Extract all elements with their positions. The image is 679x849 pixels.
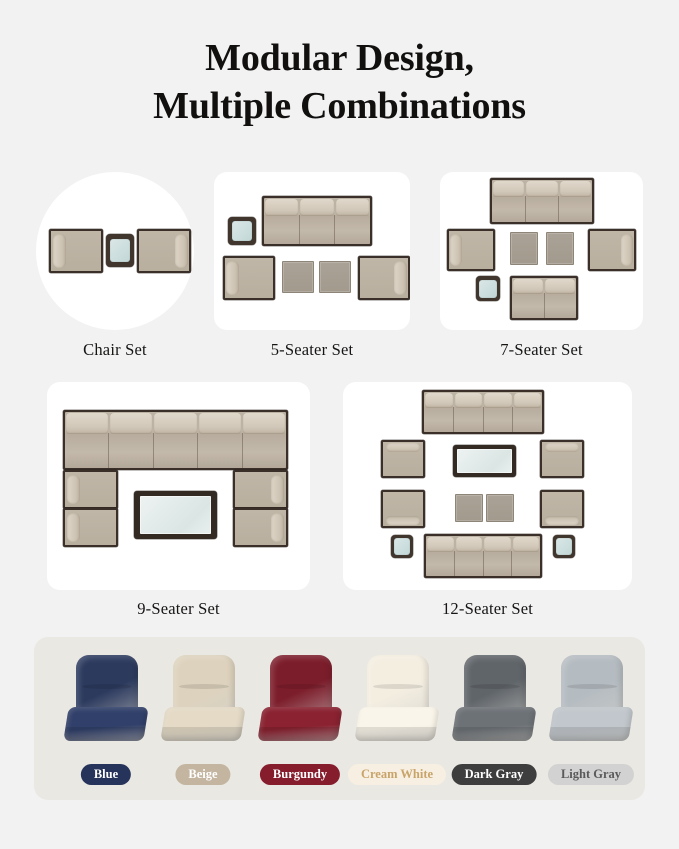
back-cushion (484, 537, 511, 552)
chair-body (590, 231, 634, 269)
seat-cushion (513, 407, 542, 432)
side-table-glass-top (479, 280, 496, 298)
seat-cushion (264, 215, 300, 244)
chair-armrest-cushion (545, 443, 579, 452)
seat-cushion (454, 407, 484, 432)
seat-cushion-swatch (257, 707, 342, 741)
back-cushion (427, 537, 454, 552)
cushion-preview (448, 655, 540, 751)
sofa-seat-cushions (426, 551, 540, 576)
back-cushion (154, 413, 196, 434)
chair-armrest-cushion (53, 234, 66, 268)
back-cushion (545, 279, 575, 294)
chair-body (51, 231, 101, 271)
sofa-back-cushions (264, 198, 370, 216)
chair-body (449, 231, 493, 269)
ottoman-stool (546, 232, 574, 265)
back-cushion (243, 413, 285, 434)
armchair (137, 229, 191, 273)
armchair (233, 470, 288, 509)
coffee-table (134, 491, 217, 539)
armchair (381, 440, 425, 478)
sofa-4-seat (422, 390, 544, 434)
side-table (553, 535, 575, 558)
back-cushion (526, 181, 557, 197)
ottoman-stool (319, 261, 351, 293)
seat-cushion-swatch (548, 707, 633, 741)
chair-armrest-cushion (67, 513, 80, 542)
seat-cushion (526, 196, 560, 222)
chair-armrest-cushion (226, 261, 238, 295)
set-card-chair-set[interactable] (36, 172, 194, 330)
chair-body (139, 231, 189, 271)
sofa-back-cushions (512, 278, 576, 294)
armchair (233, 508, 288, 547)
sofa-body (512, 278, 576, 318)
back-cushion (110, 413, 152, 434)
armchair (223, 256, 275, 300)
set-label-nine-seater-set: 9-Seater Set (47, 599, 310, 619)
seat-cushion (484, 407, 514, 432)
seat-cushion (512, 551, 540, 576)
chair-body (542, 492, 582, 526)
seat-cushion (512, 293, 545, 318)
back-cushion (456, 537, 483, 552)
chair-armrest-cushion (545, 516, 579, 525)
cushion-preview (254, 655, 346, 751)
back-cushion (66, 413, 108, 434)
back-cushion (425, 393, 453, 408)
seat-cushion (154, 433, 198, 468)
sofa-body (426, 536, 540, 576)
set-label-chair-set: Chair Set (36, 340, 194, 360)
sofa-back-cushions (492, 180, 592, 197)
sofa-body (424, 392, 542, 432)
sofa-body (264, 198, 370, 244)
armchair (588, 229, 636, 271)
side-table-glass-top (556, 538, 572, 555)
sofa-back-cushions (426, 536, 540, 552)
set-label-seven-seater-set: 7-Seater Set (440, 340, 643, 360)
set-label-twelve-seater-set: 12-Seater Set (343, 599, 632, 619)
color-label-burgundy[interactable]: Burgundy (260, 764, 340, 785)
side-table-glass-top (110, 239, 130, 263)
color-swatch-burgundy[interactable]: Burgundy (252, 655, 348, 785)
ottoman-stool (455, 494, 483, 522)
set-card-five-seater-set[interactable] (214, 172, 410, 330)
chair-armrest-cushion (175, 234, 188, 268)
sofa-2-seat (510, 276, 578, 320)
seat-cushion (559, 196, 592, 222)
armchair (63, 470, 118, 509)
color-options-panel: BlueBeigeBurgundyCream WhiteDark GrayLig… (34, 637, 645, 800)
coffee-table (453, 445, 516, 477)
armchair (540, 490, 584, 528)
armchair (358, 256, 410, 300)
chair-body (383, 492, 423, 526)
seat-cushion (424, 407, 454, 432)
side-table (476, 276, 500, 301)
color-label-dark-gray[interactable]: Dark Gray (452, 764, 537, 785)
chair-body (65, 472, 116, 507)
chair-body (225, 258, 273, 298)
set-label-five-seater-set: 5-Seater Set (214, 340, 410, 360)
chair-body (235, 472, 286, 507)
seat-cushion-swatch (354, 707, 439, 741)
seat-cushion (426, 551, 455, 576)
seat-cushion (300, 215, 336, 244)
sofa-back-cushions (65, 412, 286, 434)
armchair (381, 490, 425, 528)
side-table (391, 535, 413, 558)
seat-cushion (484, 551, 513, 576)
seat-cushion (65, 433, 109, 468)
sofa-5-seat (63, 410, 288, 470)
sofa-seat-cushions (492, 196, 592, 222)
back-cushion (336, 199, 369, 216)
cushion-preview (545, 655, 637, 751)
set-card-nine-seater-set[interactable] (47, 382, 310, 590)
armchair (540, 440, 584, 478)
seat-cushion-swatch (451, 707, 536, 741)
side-table (106, 234, 134, 267)
seat-cushion (109, 433, 153, 468)
back-cushion (493, 181, 524, 197)
chair-body (542, 442, 582, 476)
set-card-seven-seater-set[interactable] (440, 172, 643, 330)
cushion-preview (157, 655, 249, 751)
seat-cushion (198, 433, 242, 468)
seat-cushion (243, 433, 286, 468)
armchair (49, 229, 103, 273)
back-cushion (513, 537, 540, 552)
chair-body (235, 510, 286, 545)
ottoman-stool (282, 261, 314, 293)
chair-armrest-cushion (621, 234, 632, 266)
page-title: Modular Design, Multiple Combinations (0, 34, 679, 130)
color-label-light-gray[interactable]: Light Gray (548, 764, 634, 785)
seat-cushion (335, 215, 370, 244)
side-table-glass-top (232, 221, 252, 241)
ottoman-stool (486, 494, 514, 522)
color-swatch-cream-white[interactable]: Cream White (349, 655, 445, 785)
sofa-3-seat (490, 178, 594, 224)
sofa-seat-cushions (65, 433, 286, 468)
chair-body (360, 258, 408, 298)
back-cushion (265, 199, 298, 216)
chair-body (383, 442, 423, 476)
chair-armrest-cushion (450, 234, 461, 266)
coffee-table-glass-top (140, 496, 211, 533)
sofa-3-seat (262, 196, 372, 246)
chair-armrest-cushion (386, 516, 420, 525)
sofa-back-cushions (424, 392, 542, 408)
chair-armrest-cushion (271, 475, 284, 504)
chair-armrest-cushion (394, 261, 406, 295)
ottoman-stool (510, 232, 538, 265)
side-table (228, 217, 256, 245)
seat-cushion-swatch (160, 707, 245, 741)
armchair (63, 508, 118, 547)
title-line-1: Modular Design, (0, 34, 679, 82)
back-cushion (514, 393, 542, 408)
seat-cushion (455, 551, 484, 576)
color-label-blue[interactable]: Blue (81, 764, 131, 785)
set-card-twelve-seater-set[interactable] (343, 382, 632, 590)
sofa-seat-cushions (512, 293, 576, 318)
color-swatch-beige[interactable]: Beige (155, 655, 251, 785)
sofa-body (492, 180, 592, 222)
chair-body (65, 510, 116, 545)
sofa-4-seat (424, 534, 542, 578)
title-line-2: Multiple Combinations (0, 82, 679, 130)
seat-cushion-swatch (63, 707, 148, 741)
sofa-seat-cushions (424, 407, 542, 432)
seat-cushion (545, 293, 577, 318)
back-cushion (484, 393, 512, 408)
chair-armrest-cushion (386, 443, 420, 452)
back-cushion (455, 393, 483, 408)
color-swatch-dark-gray[interactable]: Dark Gray (446, 655, 542, 785)
color-label-cream-white[interactable]: Cream White (348, 764, 446, 785)
sofa-body (65, 412, 286, 468)
back-cushion (199, 413, 241, 434)
coffee-table-glass-top (457, 449, 511, 474)
side-table-glass-top (394, 538, 410, 555)
armchair (447, 229, 495, 271)
color-swatch-blue[interactable]: Blue (58, 655, 154, 785)
color-label-beige[interactable]: Beige (175, 764, 230, 785)
color-swatch-light-gray[interactable]: Light Gray (543, 655, 639, 785)
cushion-preview (60, 655, 152, 751)
cushion-preview (351, 655, 443, 751)
sofa-seat-cushions (264, 215, 370, 244)
seat-cushion (492, 196, 526, 222)
chair-armrest-cushion (67, 475, 80, 504)
back-cushion (300, 199, 333, 216)
back-cushion (560, 181, 591, 197)
back-cushion (513, 279, 543, 294)
chair-armrest-cushion (271, 513, 284, 542)
